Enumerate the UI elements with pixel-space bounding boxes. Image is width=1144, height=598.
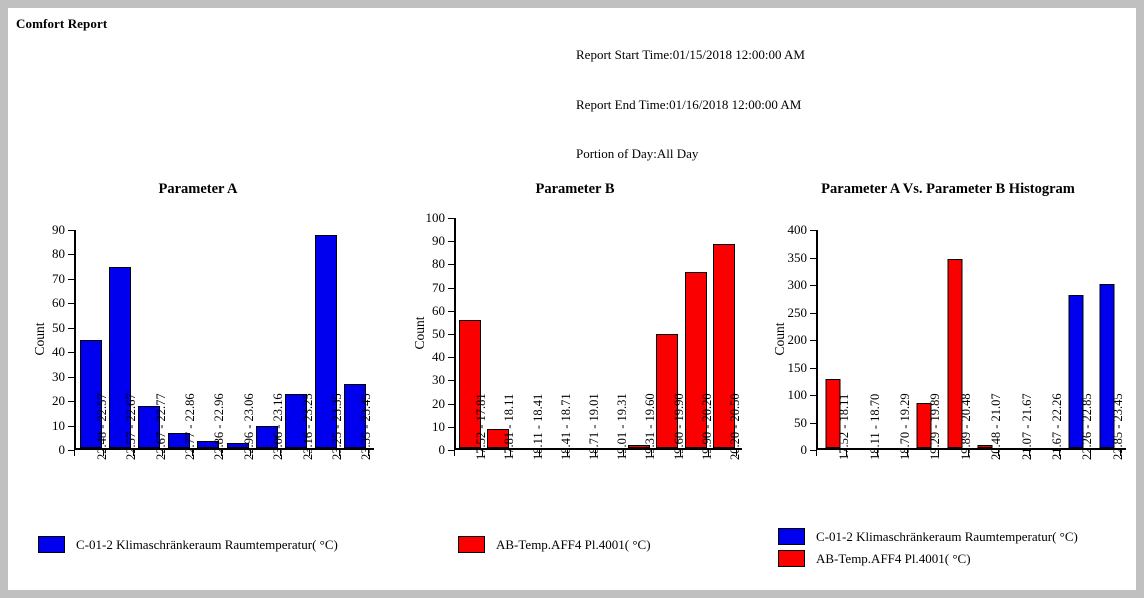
x-axis-tick-label: 21.67 - 22.26 [1050, 393, 1065, 460]
x-axis-tick-label: 20.48 - 21.07 [989, 393, 1004, 460]
y-axis-tick-label: 50 [794, 415, 807, 431]
y-axis-tick [448, 218, 454, 219]
x-axis-tick [680, 450, 681, 456]
chart-panel-parameter-b: Parameter B 0102030405060708090100Count1… [386, 168, 764, 588]
chart-title: Parameter A Vs. Parameter B Histogram [760, 181, 1136, 198]
y-axis-tick [448, 357, 454, 358]
x-axis-tick [816, 450, 817, 456]
legend-color-swatch [778, 528, 805, 545]
y-axis-tick [448, 404, 454, 405]
y-axis-tick [810, 423, 816, 424]
y-axis-tick [810, 285, 816, 286]
y-axis-tick [448, 334, 454, 335]
x-axis-tick [482, 450, 483, 456]
y-axis-tick-label: 100 [788, 387, 808, 403]
x-axis-tick [968, 450, 969, 456]
x-axis-tick [708, 450, 709, 456]
x-axis-tick [162, 450, 163, 456]
y-axis-tick [810, 340, 816, 341]
y-axis-tick-label: 90 [52, 222, 65, 238]
legend-label: C-01-2 Klimaschränkeraum Raumtemperatur(… [76, 537, 338, 553]
legend-item: C-01-2 Klimaschränkeraum Raumtemperatur(… [38, 536, 338, 553]
y-axis-tick-label: 10 [432, 419, 445, 435]
y-axis-label: Count [772, 319, 788, 359]
y-axis-label: Count [412, 313, 428, 353]
y-axis-tick-label: 350 [788, 250, 808, 266]
x-axis-tick-label: 22.67 - 22.77 [154, 393, 169, 460]
x-axis-tick [998, 450, 999, 456]
x-axis-tick [651, 450, 652, 456]
y-axis-tick [810, 395, 816, 396]
x-axis-tick [103, 450, 104, 456]
y-axis-tick-label: 50 [52, 320, 65, 336]
chart-title: Parameter A [8, 181, 388, 198]
legend-color-swatch [778, 550, 805, 567]
x-axis-tick [368, 450, 369, 456]
x-axis-tick-label: 21.07 - 21.67 [1020, 393, 1035, 460]
y-axis-tick [68, 303, 74, 304]
y-axis-tick [448, 288, 454, 289]
x-axis-tick [454, 450, 455, 456]
x-axis-tick [877, 450, 878, 456]
y-axis-tick-label: 400 [788, 222, 808, 238]
x-axis-tick [74, 450, 75, 456]
x-axis-tick [280, 450, 281, 456]
chart-panel-histogram: Parameter A Vs. Parameter B Histogram 05… [760, 168, 1136, 588]
plot-area: 0102030405060708090Count22.48 - 22.5722.… [74, 230, 368, 450]
y-axis-tick [448, 311, 454, 312]
x-axis-tick-label: 23.25 - 23.35 [330, 393, 345, 460]
y-axis-tick-label: 80 [432, 256, 445, 272]
x-axis-tick [1059, 450, 1060, 456]
legend-label: C-01-2 Klimaschränkeraum Raumtemperatur(… [816, 529, 1078, 545]
y-axis-tick-label: 50 [432, 326, 445, 342]
x-axis-tick-label: 22.57 - 22.67 [124, 393, 139, 460]
x-axis-tick [623, 450, 624, 456]
y-axis-tick-label: 70 [52, 271, 65, 287]
legend-color-swatch [458, 536, 485, 553]
y-axis-tick [68, 328, 74, 329]
x-axis-tick [339, 450, 340, 456]
x-axis-tick [736, 450, 737, 456]
plot-area: 050100150200250300350400Count17.52 - 18.… [816, 230, 1120, 450]
y-axis-tick [68, 377, 74, 378]
y-axis-tick [810, 368, 816, 369]
x-axis-tick [192, 450, 193, 456]
legend-color-swatch [38, 536, 65, 553]
y-axis-tick-label: 20 [432, 396, 445, 412]
y-axis-tick-label: 40 [52, 344, 65, 360]
x-axis-tick [250, 450, 251, 456]
x-axis-tick [1120, 450, 1121, 456]
y-axis-tick-label: 200 [788, 332, 808, 348]
x-axis-tick-label: 22.26 - 22.85 [1080, 393, 1095, 460]
page-title: Comfort Report [16, 16, 107, 32]
y-axis-tick-label: 70 [432, 280, 445, 296]
x-axis-tick-label: 23.06 - 23.16 [271, 393, 286, 460]
x-axis-tick-label: 22.86 - 22.96 [212, 393, 227, 460]
x-axis-tick-label: 17.52 - 18.11 [837, 394, 852, 460]
y-axis-tick [68, 254, 74, 255]
y-axis-tick [810, 313, 816, 314]
y-axis-tick-label: 60 [52, 295, 65, 311]
x-axis-tick [1029, 450, 1030, 456]
legend-label: AB-Temp.AFF4 Pl.4001( °C) [496, 537, 651, 553]
x-axis-tick [539, 450, 540, 456]
x-axis-tick-label: 22.48 - 22.57 [95, 393, 110, 460]
report-portion-of-day: Portion of Day:All Day [576, 146, 805, 163]
y-axis-tick-label: 0 [801, 442, 808, 458]
x-axis-tick [846, 450, 847, 456]
x-axis-tick-label: 22.96 - 23.06 [242, 393, 257, 460]
y-axis-tick-label: 250 [788, 305, 808, 321]
report-end-time: Report End Time:01/16/2018 12:00:00 AM [576, 97, 805, 114]
y-axis-tick-label: 80 [52, 246, 65, 262]
chart-legend: AB-Temp.AFF4 Pl.4001( °C) [458, 536, 651, 558]
y-axis-tick-label: 10 [52, 418, 65, 434]
x-axis-tick-label: 23.35 - 23.45 [359, 393, 374, 460]
y-axis-tick-label: 30 [52, 369, 65, 385]
y-axis-tick [68, 401, 74, 402]
legend-item: C-01-2 Klimaschränkeraum Raumtemperatur(… [778, 528, 1078, 545]
x-axis-tick [907, 450, 908, 456]
x-axis-tick [595, 450, 596, 456]
x-axis-tick-label: 19.89 - 20.48 [959, 393, 974, 460]
chart-title: Parameter B [386, 181, 764, 198]
y-axis-tick-label: 0 [59, 442, 66, 458]
x-axis-tick-label: 19.29 - 19.89 [928, 393, 943, 460]
y-axis-tick-label: 300 [788, 277, 808, 293]
x-axis-tick [309, 450, 310, 456]
y-axis-tick-label: 150 [788, 360, 808, 376]
y-axis-tick [68, 426, 74, 427]
x-axis-tick-label: 23.16 - 23.25 [301, 393, 316, 460]
report-page: Comfort Report Report Start Time:01/15/2… [8, 8, 1136, 590]
x-axis-tick-label: 18.11 - 18.70 [868, 394, 883, 460]
x-axis-tick-label: 18.70 - 19.29 [898, 393, 913, 460]
x-axis-tick [133, 450, 134, 456]
y-axis-tick-label: 90 [432, 233, 445, 249]
report-start-time: Report Start Time:01/15/2018 12:00:00 AM [576, 47, 805, 64]
y-axis-tick [810, 258, 816, 259]
legend-label: AB-Temp.AFF4 Pl.4001( °C) [816, 551, 971, 567]
x-axis-tick [567, 450, 568, 456]
x-axis-tick [510, 450, 511, 456]
y-axis-tick [68, 279, 74, 280]
y-axis-tick [448, 380, 454, 381]
legend-item: AB-Temp.AFF4 Pl.4001( °C) [778, 550, 1078, 567]
y-axis-label: Count [32, 319, 48, 359]
legend-item: AB-Temp.AFF4 Pl.4001( °C) [458, 536, 651, 553]
plot-area: 0102030405060708090100Count17.52 - 17.81… [454, 218, 736, 450]
y-axis-tick [448, 427, 454, 428]
x-axis-tick-label: 22.85 - 23.45 [1111, 393, 1126, 460]
x-axis-tick [938, 450, 939, 456]
y-axis-tick-label: 60 [432, 303, 445, 319]
y-axis-tick [68, 230, 74, 231]
y-axis-tick [68, 352, 74, 353]
y-axis-tick-label: 20 [52, 393, 65, 409]
chart-panel-parameter-a: Parameter A 0102030405060708090Count22.4… [8, 168, 388, 588]
y-axis-tick-label: 0 [439, 442, 446, 458]
chart-legend: C-01-2 Klimaschränkeraum Raumtemperatur(… [38, 536, 338, 558]
y-axis-tick-label: 30 [432, 372, 445, 388]
y-axis-tick [448, 241, 454, 242]
x-axis-tick [221, 450, 222, 456]
y-axis-tick [448, 264, 454, 265]
x-axis-tick [1090, 450, 1091, 456]
x-axis-tick-label: 22.77 - 22.86 [183, 393, 198, 460]
y-axis-tick-label: 100 [426, 210, 446, 226]
y-axis-tick-label: 40 [432, 349, 445, 365]
y-axis-tick [810, 230, 816, 231]
chart-legend: C-01-2 Klimaschränkeraum Raumtemperatur(… [778, 528, 1078, 572]
